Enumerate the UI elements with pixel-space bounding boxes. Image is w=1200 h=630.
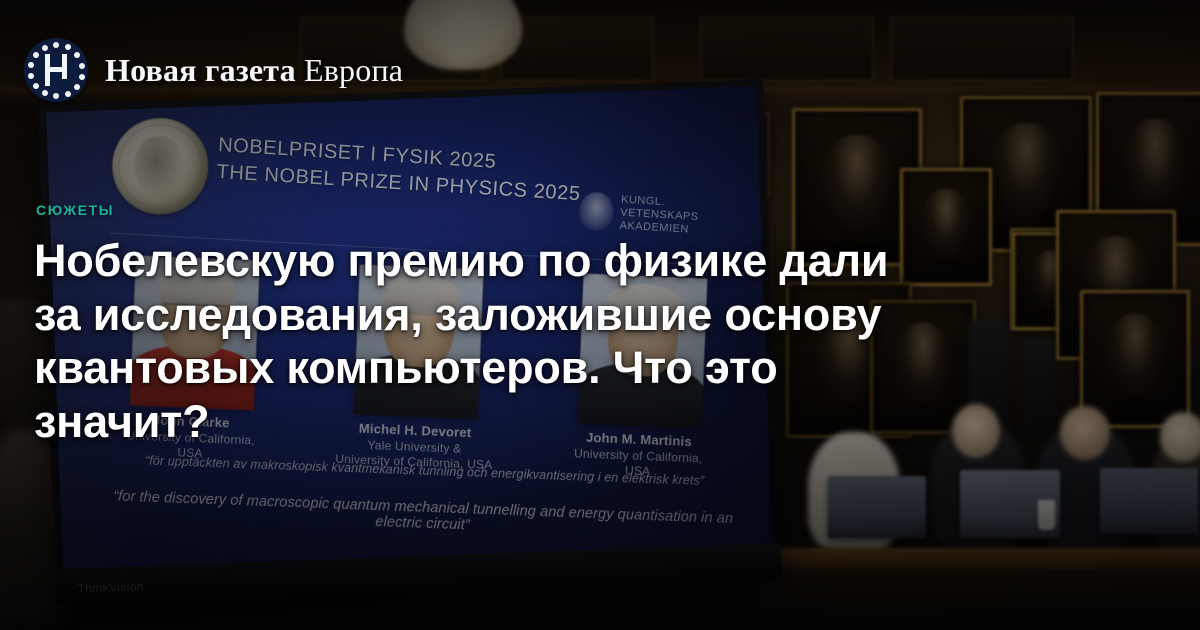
academy-logo-text: KUNGL. VETENSKAPS AKADEMIEN [619,194,699,237]
wood-panel [890,16,1074,82]
journalist-head [1060,406,1110,460]
novaya-gazeta-roundel-icon[interactable] [24,38,88,102]
monitor-brand-label: ThinkVision [77,579,144,595]
masthead-name-bold: Новая газета [105,52,296,88]
academy-logo: KUNGL. VETENSKAPS AKADEMIEN [578,191,699,237]
laptop [1100,468,1198,534]
citation-english: “for the discovery of macroscopic quantu… [110,488,737,543]
social-share-card: NOBELPRISET I FYSIK 2025 THE NOBEL PRIZE… [0,0,1200,630]
kungl-vetenskapsakademien-seal-icon [578,192,614,232]
article-rubric[interactable]: СЮЖЕТЫ [36,202,114,218]
nobel-medal-icon [108,114,212,218]
slide-title: NOBELPRISET I FYSIK 2025 THE NOBEL PRIZE… [216,132,583,208]
wall-portrait [1080,290,1190,428]
headline-line-2: за исследования, заложившие основу [34,288,1049,342]
wood-panel [700,16,874,82]
paper-cup [1038,500,1055,530]
masthead[interactable]: Новая газета Европа [24,38,403,102]
masthead-wordmark[interactable]: Новая газета Европа [105,52,403,89]
laptop [828,476,926,538]
ceiling-stucco-ornament [404,0,522,70]
headline-line-3: квантовых компьютеров. Что это [34,341,1049,395]
masthead-name-light: Европа [296,52,403,88]
wood-panel [500,16,654,82]
journalist-head [1160,412,1200,462]
headline-line-1: Нобелевскую премию по физике дали [34,234,1049,288]
article-headline[interactable]: Нобелевскую премию по физике дали за исс… [34,234,1049,448]
novaya-gazeta-monogram-icon [43,54,69,86]
headline-line-4: значит? [34,395,1049,449]
